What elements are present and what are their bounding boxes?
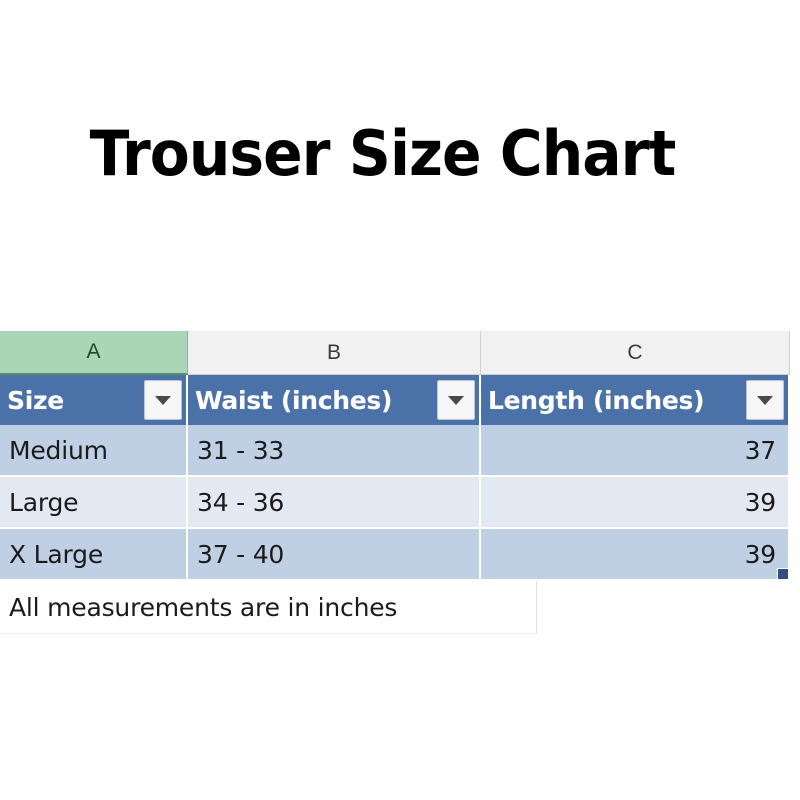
table-header-cell-waist[interactable]: Waist (inches) — [188, 375, 481, 425]
table-header-row: Size Waist (inches) Length (inches) — [0, 375, 790, 425]
column-header-c-label: C — [627, 341, 642, 365]
cell-length[interactable]: 39 — [481, 477, 790, 529]
filter-dropdown-waist[interactable] — [437, 380, 475, 420]
cell-size[interactable]: Large — [0, 477, 188, 529]
cell-length-value: 39 — [745, 540, 776, 569]
chevron-down-icon — [757, 396, 773, 405]
table-header-label-size: Size — [0, 386, 64, 415]
table-note[interactable]: All measurements are in inches — [0, 581, 537, 634]
chevron-down-icon — [155, 396, 171, 405]
cell-size[interactable]: Medium — [0, 425, 188, 477]
table-row: Large 34 - 36 39 — [0, 477, 790, 529]
table-header-label-waist: Waist (inches) — [188, 386, 392, 415]
cell-waist[interactable]: 31 - 33 — [188, 425, 481, 477]
column-header-b[interactable]: B — [188, 331, 481, 375]
table-header-cell-size[interactable]: Size — [0, 375, 188, 425]
column-header-c[interactable]: C — [481, 331, 790, 375]
table-note-row: All measurements are in inches — [0, 581, 790, 634]
cell-waist[interactable]: 37 - 40 — [188, 529, 481, 581]
cell-size[interactable]: X Large — [0, 529, 188, 581]
spreadsheet: A B C Size Waist (inches) Length (inches… — [0, 331, 790, 634]
note-row-filler — [537, 581, 790, 634]
cell-waist[interactable]: 34 - 36 — [188, 477, 481, 529]
table-row: Medium 31 - 33 37 — [0, 425, 790, 477]
table-header-label-length: Length (inches) — [481, 386, 704, 415]
table-row: X Large 37 - 40 39 — [0, 529, 790, 581]
cell-length[interactable]: 37 — [481, 425, 790, 477]
filter-dropdown-size[interactable] — [144, 380, 182, 420]
column-header-b-label: B — [327, 341, 341, 365]
column-header-row: A B C — [0, 331, 790, 375]
filter-dropdown-length[interactable] — [746, 380, 784, 420]
column-header-a[interactable]: A — [0, 331, 188, 375]
table-header-cell-length[interactable]: Length (inches) — [481, 375, 790, 425]
page-title: Trouser Size Chart — [23, 118, 742, 190]
chevron-down-icon — [448, 396, 464, 405]
cell-length[interactable]: 39 — [481, 529, 790, 581]
fill-handle[interactable] — [777, 568, 789, 580]
column-header-a-label: A — [86, 340, 100, 364]
